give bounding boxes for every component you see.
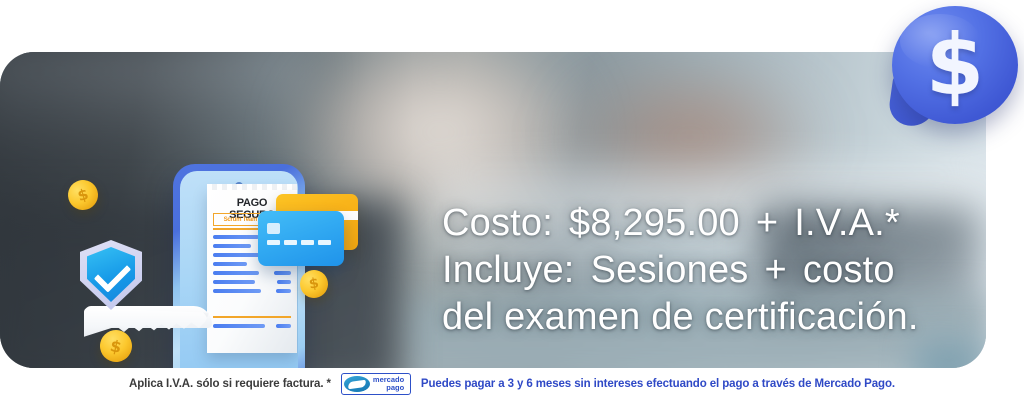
dollar-icon: $	[892, 6, 1018, 124]
headline-block: Costo:$8,295.00+I.V.A.* Incluye:Sesiones…	[442, 200, 942, 341]
handshake-icon	[344, 376, 370, 392]
security-shield-icon	[80, 240, 142, 310]
iva-note: Aplica I.V.A. sólo si requiere factura. …	[129, 378, 331, 390]
card-number-placeholder	[267, 240, 331, 245]
installments-promo-text: Puedes pagar a 3 y 6 meses sin intereses…	[421, 378, 895, 390]
receipt-total-line	[213, 324, 291, 333]
receipt-top-edge	[207, 184, 297, 190]
logo-line-2: pago	[373, 384, 404, 392]
promo-banner: Costo:$8,295.00+I.V.A.* Incluye:Sesiones…	[0, 52, 986, 368]
credit-cards-icon	[258, 194, 360, 272]
headline-cost-word: costo	[803, 249, 895, 291]
receipt-rule-bottom	[213, 316, 291, 318]
receipt-line	[213, 324, 291, 328]
headline-line-1: Costo:$8,295.00+I.V.A.*	[442, 200, 942, 247]
dollar-speech-bubble-badge: $	[884, 4, 1024, 136]
banner-stage: Costo:$8,295.00+I.V.A.* Incluye:Sesiones…	[0, 0, 1024, 400]
payment-illustration: PAGO SEGURO Scrum Team Member	[60, 132, 370, 368]
receipt-line	[213, 289, 291, 293]
headline-includes-label: Incluye:	[442, 249, 575, 291]
mercado-pago-logo[interactable]: mercado pago	[341, 373, 411, 395]
headline-cost-label: Costo:	[442, 202, 553, 244]
footer-bar: Aplica I.V.A. sólo si requiere factura. …	[0, 370, 1024, 398]
headline-line-2: Incluye:Sesiones+costo	[442, 247, 942, 294]
headline-line-3: del examen de certificación.	[442, 294, 942, 341]
coin-icon: $	[97, 327, 135, 365]
headline-sessions: Sesiones	[591, 249, 749, 291]
headline-amount: $8,295.00	[569, 202, 740, 244]
card-chip-icon	[267, 223, 280, 234]
headline-tax: I.V.A.*	[794, 202, 900, 244]
headline-plus-2: +	[765, 249, 787, 291]
mercado-pago-wordmark: mercado pago	[373, 376, 404, 392]
card-blue	[258, 211, 344, 266]
headline-plus-1: +	[756, 202, 778, 244]
coin-icon: $	[64, 176, 101, 213]
receipt-line	[213, 280, 291, 284]
